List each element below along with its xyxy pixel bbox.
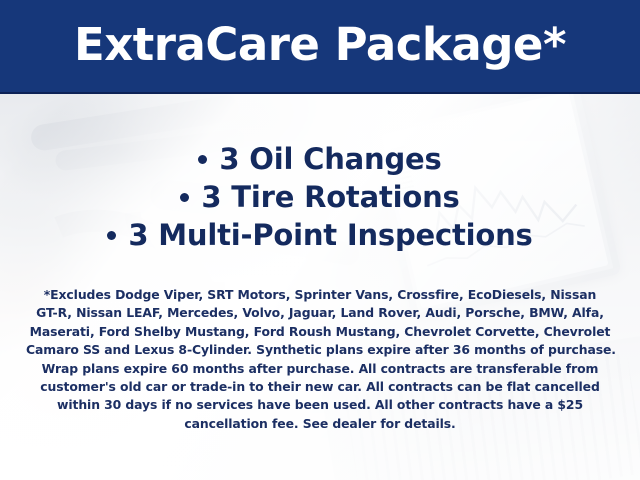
header-banner: ExtraCare Package* xyxy=(0,0,640,94)
list-item: 3 Oil Changes xyxy=(0,140,640,178)
disclaimer-line: GT-R, Nissan LEAF, Mercedes, Volvo, Jagu… xyxy=(26,304,614,322)
list-item: 3 Multi-Point Inspections xyxy=(0,216,640,254)
disclaimer-line: Camaro SS and Lexus 8-Cylinder. Syntheti… xyxy=(26,341,614,359)
benefit-label: 3 Tire Rotations xyxy=(201,180,459,214)
disclaimer-line: *Excludes Dodge Viper, SRT Motors, Sprin… xyxy=(26,286,614,304)
disclaimer-line: Wrap plans expire 60 months after purcha… xyxy=(26,360,614,378)
disclaimer-line: within 30 days if no services have been … xyxy=(26,396,614,414)
disclaimer-line: customer's old car or trade-in to their … xyxy=(26,378,614,396)
disclaimer-line: cancellation fee. See dealer for details… xyxy=(26,415,614,433)
disclaimer-text: *Excludes Dodge Viper, SRT Motors, Sprin… xyxy=(26,286,614,433)
page-title: ExtraCare Package* xyxy=(0,16,640,74)
bullet-dot-icon xyxy=(198,155,207,164)
list-item: 3 Tire Rotations xyxy=(0,178,640,216)
bullet-dot-icon xyxy=(180,193,189,202)
benefit-label: 3 Oil Changes xyxy=(219,142,441,176)
benefits-list: 3 Oil Changes 3 Tire Rotations 3 Multi-P… xyxy=(0,140,640,254)
benefit-label: 3 Multi-Point Inspections xyxy=(128,218,532,252)
bullet-dot-icon xyxy=(107,231,116,240)
extracare-package-ad: ExtraCare Package* 3 Oil Changes 3 Tire … xyxy=(0,0,640,480)
disclaimer-line: Maserati, Ford Shelby Mustang, Ford Rous… xyxy=(26,323,614,341)
